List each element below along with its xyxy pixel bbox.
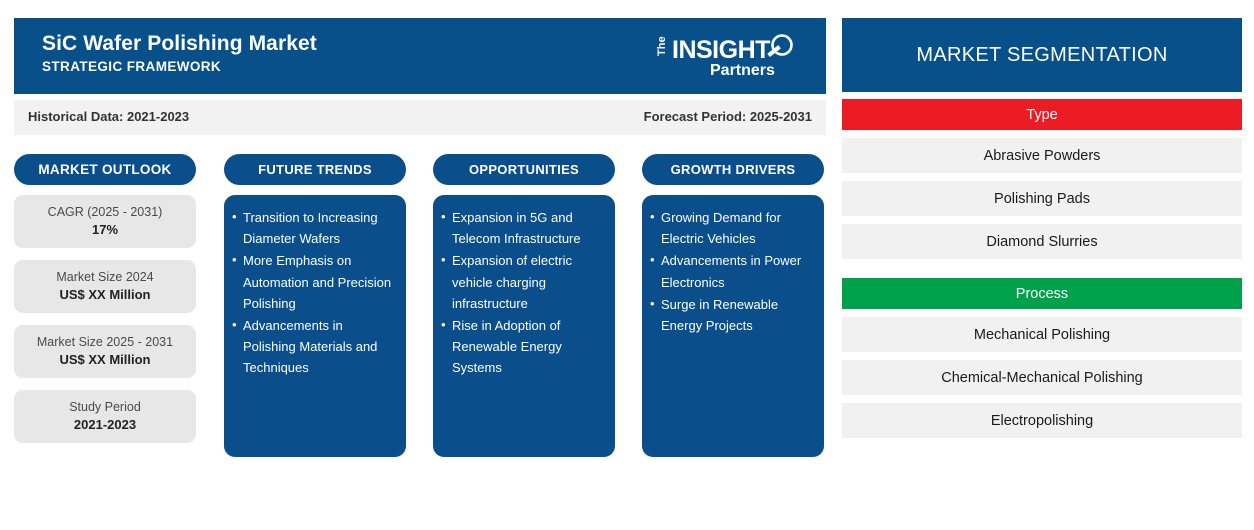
future-trends-card: Transition to Increasing Diameter Wafers… <box>224 195 406 457</box>
column-growth-drivers: GROWTH DRIVERS Growing Demand for Electr… <box>642 154 824 185</box>
stat-card: Market Size 2025 - 2031 US$ XX Million <box>14 325 196 378</box>
segmentation-title: MARKET SEGMENTATION <box>842 18 1242 92</box>
page-title: SiC Wafer Polishing Market <box>42 32 317 56</box>
historical-data-label: Historical Data: 2021-2023 <box>28 109 189 124</box>
future-trends-list: Transition to Increasing Diameter Wafers… <box>232 207 396 379</box>
forecast-period-label: Forecast Period: 2025-2031 <box>644 109 812 124</box>
list-item: Expansion in 5G and Telecom Infrastructu… <box>441 207 605 249</box>
opportunities-list: Expansion in 5G and Telecom Infrastructu… <box>441 207 605 379</box>
stat-value: US$ XX Million <box>59 286 150 305</box>
growth-drivers-card: Growing Demand for Electric Vehicles Adv… <box>642 195 824 457</box>
page-subtitle: STRATEGIC FRAMEWORK <box>42 59 221 74</box>
column-heading-future-trends[interactable]: FUTURE TRENDS <box>224 154 406 185</box>
column-opportunities: OPPORTUNITIES Expansion in 5G and Teleco… <box>433 154 615 185</box>
segment-item[interactable]: Diamond Slurries <box>842 224 1242 259</box>
list-item: Growing Demand for Electric Vehicles <box>650 207 814 249</box>
segment-group-process[interactable]: Process <box>842 278 1242 309</box>
stat-value: 2021-2023 <box>74 416 136 435</box>
column-market-outlook: MARKET OUTLOOK CAGR (2025 - 2031) 17% Ma… <box>14 154 196 185</box>
stat-label: Study Period <box>69 399 141 416</box>
list-item: Rise in Adoption of Renewable Energy Sys… <box>441 315 605 379</box>
stat-card: Study Period 2021-2023 <box>14 390 196 443</box>
logo-mark: The INSIGHT Partners <box>654 30 804 82</box>
market-outlook-stats: CAGR (2025 - 2031) 17% Market Size 2024 … <box>14 195 196 455</box>
stat-card: CAGR (2025 - 2031) 17% <box>14 195 196 248</box>
segment-item[interactable]: Mechanical Polishing <box>842 317 1242 352</box>
segment-item[interactable]: Abrasive Powders <box>842 138 1242 173</box>
column-heading-growth-drivers[interactable]: GROWTH DRIVERS <box>642 154 824 185</box>
stat-card: Market Size 2024 US$ XX Million <box>14 260 196 313</box>
period-bar: Historical Data: 2021-2023 Forecast Peri… <box>14 100 826 135</box>
insight-partners-logo: The INSIGHT Partners <box>654 30 804 82</box>
svg-text:Partners: Partners <box>710 62 775 79</box>
stat-label: CAGR (2025 - 2031) <box>48 204 163 221</box>
opportunities-card: Expansion in 5G and Telecom Infrastructu… <box>433 195 615 457</box>
svg-text:INSIGHT: INSIGHT <box>672 36 770 64</box>
report-header: SiC Wafer Polishing Market STRATEGIC FRA… <box>14 18 826 94</box>
infographic-page: SiC Wafer Polishing Market STRATEGIC FRA… <box>0 0 1254 530</box>
list-item: Surge in Renewable Energy Projects <box>650 294 814 336</box>
segment-item[interactable]: Polishing Pads <box>842 181 1242 216</box>
column-heading-market-outlook[interactable]: MARKET OUTLOOK <box>14 154 196 185</box>
list-item: Advancements in Polishing Materials and … <box>232 315 396 379</box>
market-segmentation-panel: MARKET SEGMENTATION Type Abrasive Powder… <box>842 18 1242 459</box>
column-future-trends: FUTURE TRENDS Transition to Increasing D… <box>224 154 406 185</box>
list-item: Advancements in Power Electronics <box>650 250 814 292</box>
framework-columns: MARKET OUTLOOK CAGR (2025 - 2031) 17% Ma… <box>14 154 826 460</box>
list-item: More Emphasis on Automation and Precisio… <box>232 250 396 314</box>
svg-text:The: The <box>656 36 668 56</box>
column-heading-opportunities[interactable]: OPPORTUNITIES <box>433 154 615 185</box>
list-item: Expansion of electric vehicle charging i… <box>441 250 605 314</box>
growth-drivers-list: Growing Demand for Electric Vehicles Adv… <box>650 207 814 336</box>
segment-item[interactable]: Electropolishing <box>842 403 1242 438</box>
group-spacer <box>842 259 1242 271</box>
stat-label: Market Size 2024 <box>56 269 153 286</box>
stat-label: Market Size 2025 - 2031 <box>37 334 173 351</box>
segment-group-type[interactable]: Type <box>842 99 1242 130</box>
stat-value: 17% <box>92 221 118 240</box>
strategic-framework-panel: SiC Wafer Polishing Market STRATEGIC FRA… <box>14 18 826 478</box>
stat-value: US$ XX Million <box>59 351 150 370</box>
list-item: Transition to Increasing Diameter Wafers <box>232 207 396 249</box>
segment-item[interactable]: Chemical-Mechanical Polishing <box>842 360 1242 395</box>
